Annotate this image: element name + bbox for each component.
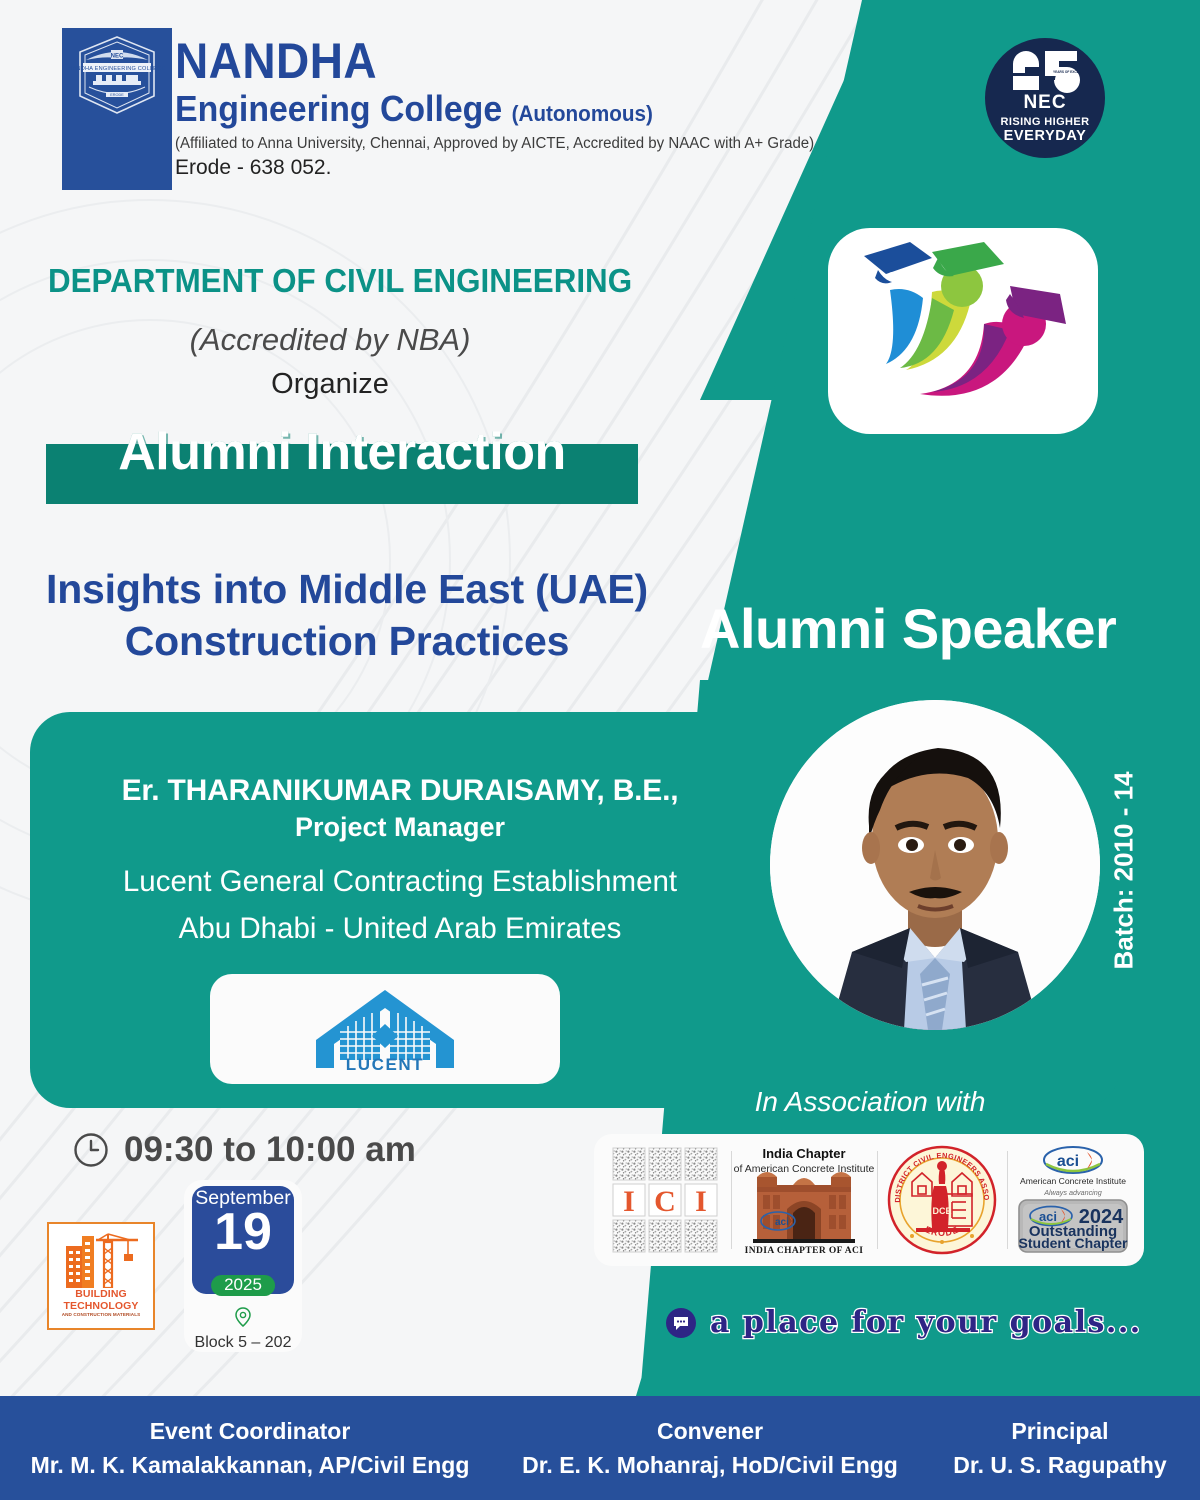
department-name: DEPARTMENT OF CIVIL ENGINEERING xyxy=(48,262,632,300)
event-date-top: September 19 2025 xyxy=(192,1186,294,1294)
building-technology-logo: BUILDING TECHNOLOGY AND CONSTRUCTION MAT… xyxy=(47,1222,155,1330)
event-title-line2: Construction Practices xyxy=(0,615,694,667)
footer-name-1: Mr. M. K. Kamalakkannan, AP/Civil Engg xyxy=(0,1452,500,1479)
footer-column-principal: Principal Dr. U. S. Ragupathy xyxy=(920,1418,1200,1479)
event-time-row: 09:30 to 10:00 am xyxy=(72,1130,416,1170)
anniversary-25-badge: YEARS OF EXCELLENCE NEC RISING HIGHER EV… xyxy=(985,38,1105,158)
svg-text:ERODE: ERODE xyxy=(110,93,124,97)
badge-line1: RISING HIGHER xyxy=(1001,116,1090,128)
college-name-text: Engineering College xyxy=(175,88,502,129)
alumni-logo-card xyxy=(828,228,1098,434)
india-chapter-line3: INDIA CHAPTER OF ACI xyxy=(744,1246,863,1256)
speaker-batch-label: Batch: 2010 - 14 xyxy=(1109,771,1140,969)
location-pin-icon xyxy=(234,1307,252,1331)
svg-text:I: I xyxy=(623,1185,635,1218)
speaker-name: Er. THARANIKUMAR DURAISAMY, B.E., xyxy=(40,774,760,808)
speaker-batch: Batch: 2010 - 14 xyxy=(1104,740,1144,1000)
footer-column-event-coordinator: Event Coordinator Mr. M. K. Kamalakkanna… xyxy=(0,1418,500,1479)
footer-bar: Event Coordinator Mr. M. K. Kamalakkanna… xyxy=(0,1396,1200,1500)
nec-abbr: NEC xyxy=(1023,92,1066,114)
building-tech-line3: AND CONSTRUCTION MATERIALS xyxy=(62,1312,141,1317)
aci-mark-text: aci xyxy=(775,1217,789,1228)
india-chapter-line1: India Chapter xyxy=(762,1146,845,1161)
event-type: Alumni Interaction xyxy=(46,425,638,480)
alumni-speaker-heading: Alumni Speaker xyxy=(700,596,1116,661)
assoc-logo-aci-2024-outstanding-student-chapter: aci American Concrete Institute Always a… xyxy=(1007,1142,1138,1258)
speaker-org-line1: Lucent General Contracting Establishment xyxy=(20,858,780,905)
building-crane-icon xyxy=(58,1230,144,1288)
nandha-college-seal-logo: NEC NANDHA ENGINEERING COLLEGE ERODE xyxy=(68,34,166,116)
india-chapter-line2: of American Concrete Institute xyxy=(733,1163,874,1175)
association-heading: In Association with xyxy=(600,1086,1140,1118)
speaker-role: Project Manager xyxy=(40,812,760,843)
building-tech-line2: TECHNOLOGY xyxy=(63,1300,138,1312)
event-title: Insights into Middle East (UAE) Construc… xyxy=(0,563,694,668)
alumni-graduates-logo xyxy=(828,228,1098,434)
autonomous-label: (Autonomous) xyxy=(512,101,653,126)
building-tech-line1: BUILDING xyxy=(75,1288,127,1300)
assoc-logo-ici: I C I xyxy=(600,1142,731,1258)
event-venue: Block 5 – 202 xyxy=(195,1334,292,1352)
assoc-logo-india-chapter-aci: India Chapter of American Concrete Insti… xyxy=(731,1142,877,1258)
college-location: Erode - 638 052. xyxy=(175,156,834,180)
tagline-text: a place for your goals... xyxy=(710,1305,1142,1340)
college-name-block: NANDHA Engineering College (Autonomous) … xyxy=(175,36,834,180)
lucent-company-logo-card: LUCENT xyxy=(210,974,560,1084)
college-name-line2: Engineering College (Autonomous) xyxy=(175,86,794,131)
footer-role-3: Principal xyxy=(920,1418,1200,1445)
anniversary-number-graphic: YEARS OF EXCELLENCE xyxy=(1009,48,1081,94)
association-logos-card: I C I India Chapter of American Concrete… xyxy=(594,1134,1144,1266)
event-year: 2025 xyxy=(211,1275,275,1296)
svg-text:I: I xyxy=(695,1185,707,1218)
svg-text:C: C xyxy=(654,1185,676,1218)
clock-icon xyxy=(72,1131,110,1169)
lucent-logo: LUCENT xyxy=(310,986,460,1072)
anniversary-inner-text: YEARS OF EXCELLENCE xyxy=(1053,70,1081,74)
aci-award-mark: aci xyxy=(1039,1209,1057,1224)
erode-dcea-logo: ERODE DISTRICT CIVIL ENGINEERS ASSOCIATI… xyxy=(886,1144,998,1256)
footer-name-2: Dr. E. K. Mohanraj, HoD/Civil Engg xyxy=(500,1452,920,1479)
footer-column-convener: Convener Dr. E. K. Mohanraj, HoD/Civil E… xyxy=(500,1418,920,1479)
lucent-logo-text: LUCENT xyxy=(346,1055,425,1072)
aci-sub2: Always advancing xyxy=(1043,1188,1102,1197)
event-time: 09:30 to 10:00 am xyxy=(124,1130,416,1170)
chat-bubble-icon xyxy=(666,1308,696,1338)
department-accreditation: (Accredited by NBA) xyxy=(0,322,660,358)
aci-2024-award-logo: aci American Concrete Institute Always a… xyxy=(1009,1144,1137,1256)
tagline-row: a place for your goals... xyxy=(666,1305,1142,1340)
speaker-photo xyxy=(770,700,1100,1030)
erode-center-text: DCE xyxy=(932,1206,951,1216)
poster-root: NEC NANDHA ENGINEERING COLLEGE ERODE NAN… xyxy=(0,0,1200,1500)
ici-logo: I C I xyxy=(609,1144,721,1256)
speaker-org-line2: Abu Dhabi - United Arab Emirates xyxy=(20,905,780,952)
speaker-organisation: Lucent General Contracting Establishment… xyxy=(20,858,780,952)
badge-line2: EVERYDAY xyxy=(1004,128,1087,144)
organize-label: Organize xyxy=(0,368,660,401)
aci-mark-text: aci xyxy=(1057,1153,1079,1170)
aci-sub1: American Concrete Institute xyxy=(1020,1176,1126,1186)
event-day: 19 xyxy=(214,1208,272,1257)
footer-role-2: Convener xyxy=(500,1418,920,1445)
footer-name-3: Dr. U. S. Ragupathy xyxy=(920,1452,1200,1479)
affiliation-text: (Affiliated to Anna University, Chennai,… xyxy=(175,135,814,153)
india-chapter-aci-logo: India Chapter of American Concrete Insti… xyxy=(731,1143,877,1257)
footer-role-1: Event Coordinator xyxy=(0,1418,500,1445)
svg-text:NEC: NEC xyxy=(111,54,124,60)
college-name-line1: NANDHA xyxy=(175,36,781,86)
aci-award-line2: Student Chapter xyxy=(1018,1235,1127,1251)
assoc-logo-erode-district-civil-engineers-association: ERODE DISTRICT CIVIL ENGINEERS ASSOCIATI… xyxy=(877,1142,1008,1258)
event-date-card: September 19 2025 Block 5 – 202 xyxy=(184,1180,302,1352)
event-title-line1: Insights into Middle East (UAE) xyxy=(0,563,694,615)
svg-text:NANDHA ENGINEERING COLLEGE: NANDHA ENGINEERING COLLEGE xyxy=(68,66,165,72)
